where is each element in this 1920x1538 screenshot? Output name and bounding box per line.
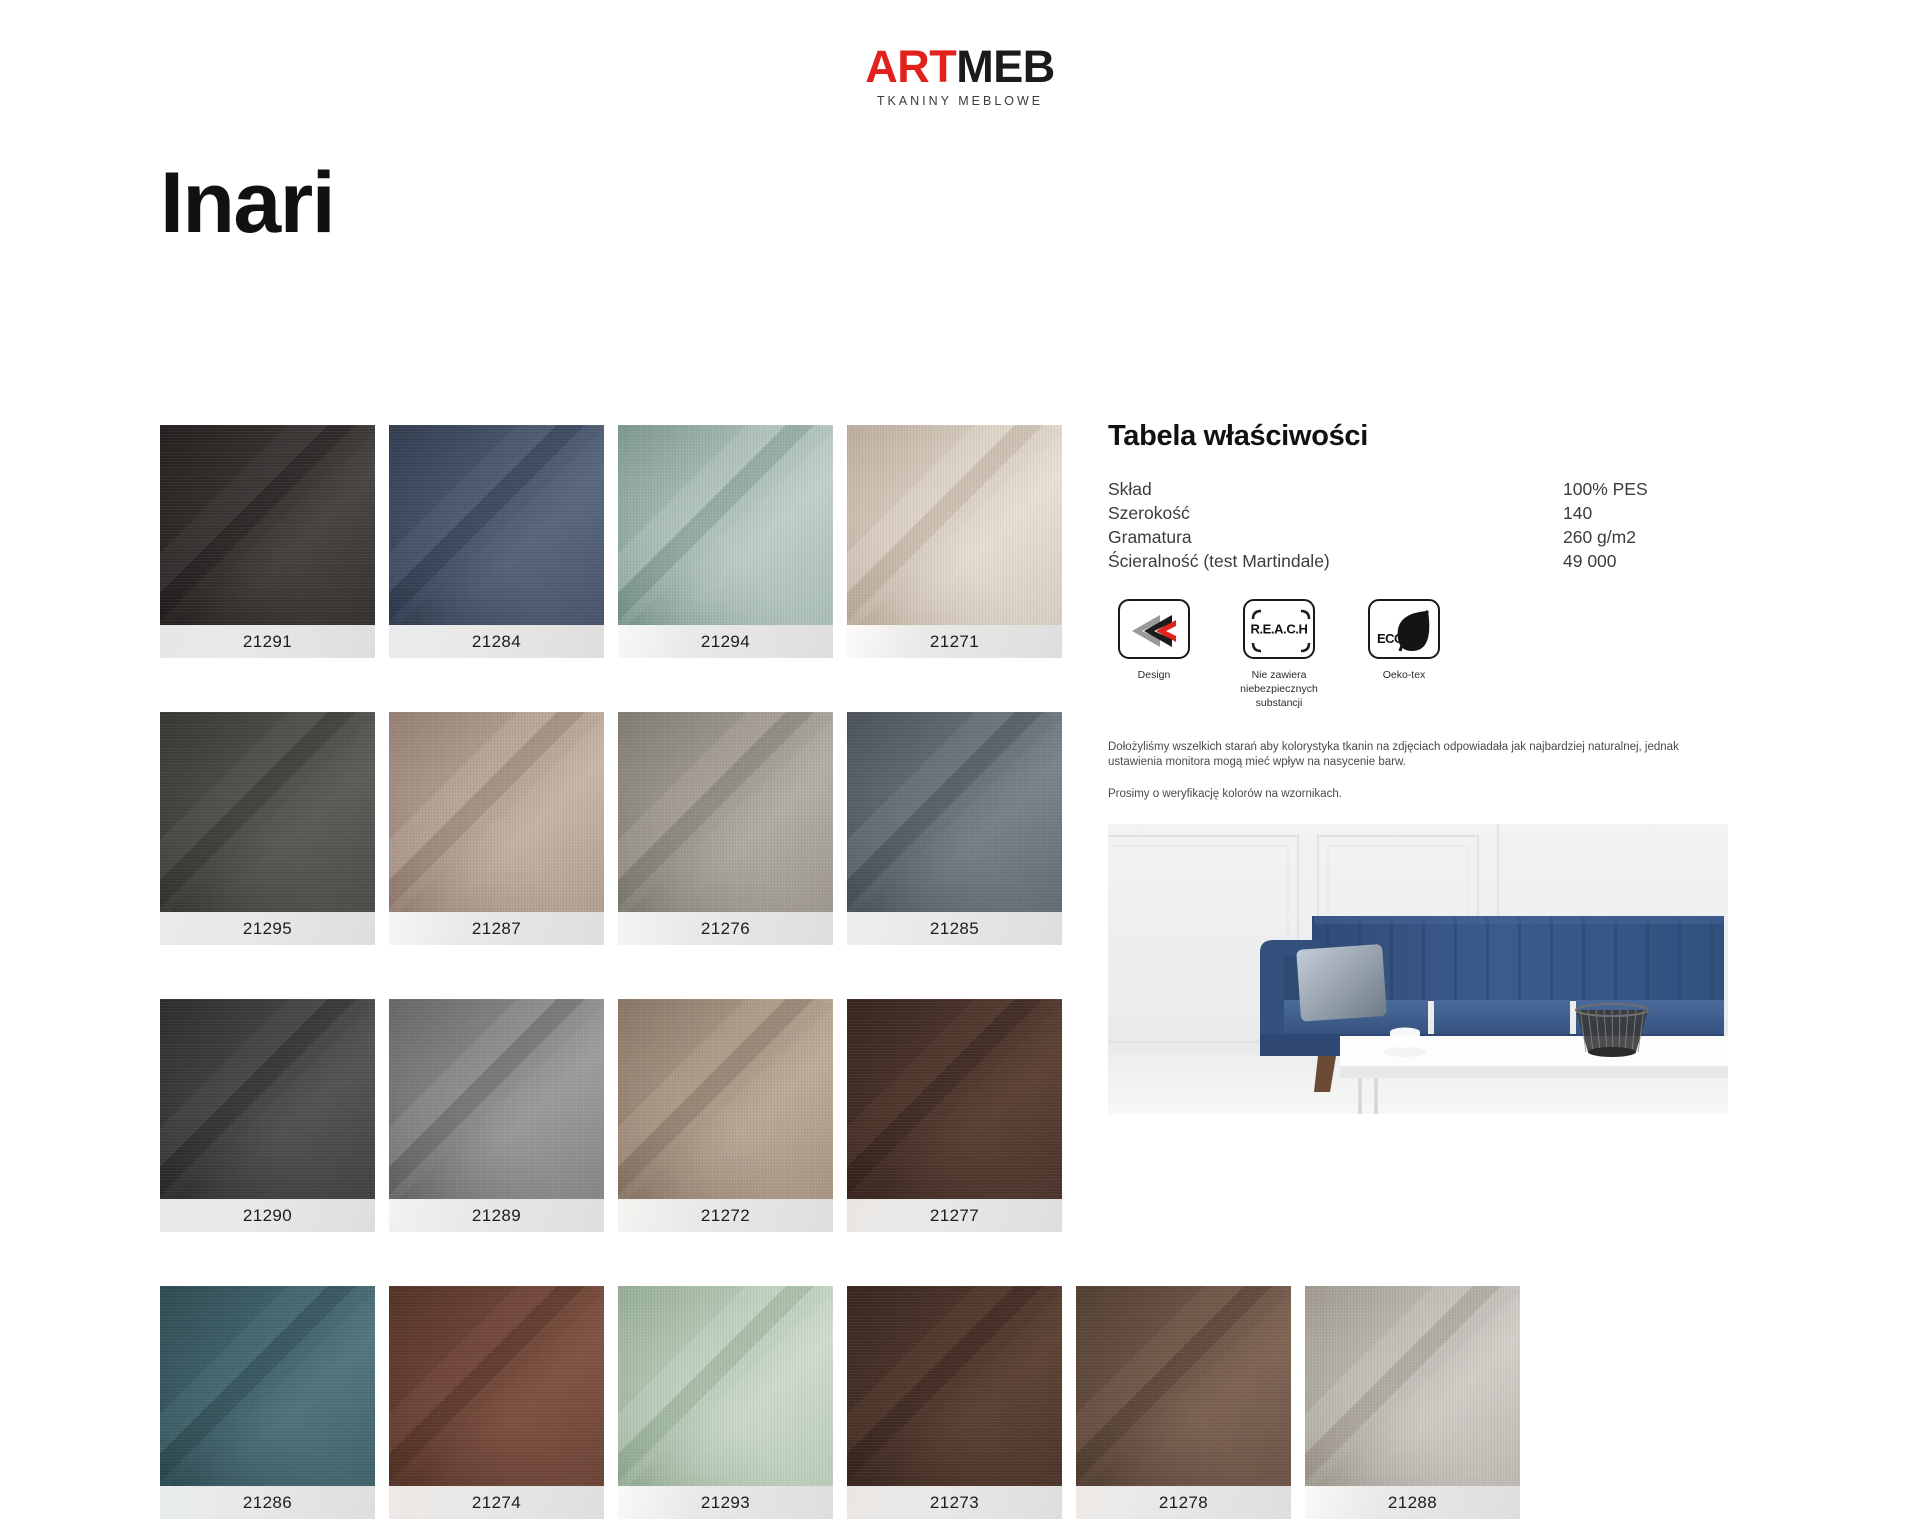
swatch-item[interactable]: 21287 <box>389 712 604 945</box>
sofa-scene-illustration <box>1108 824 1728 1114</box>
swatch-item[interactable]: 21278 <box>1076 1286 1291 1519</box>
property-row: Ścieralność (test Martindale)49 000 <box>1108 549 1748 573</box>
swatch-item[interactable]: 21295 <box>160 712 375 945</box>
property-value: 260 g/m2 <box>1563 525 1748 549</box>
swatch-code-label: 21291 <box>160 625 375 658</box>
swatch-item[interactable]: 21291 <box>160 425 375 658</box>
fabric-catalog-page: ARTMEB TKANINY MEBLOWE Inari 21291212842… <box>0 0 1920 1538</box>
swatch-item[interactable]: 21288 <box>1305 1286 1520 1519</box>
swatch-fabric-image <box>160 1286 375 1486</box>
swatch-fabric-image <box>1076 1286 1291 1486</box>
swatch-item[interactable]: 21289 <box>389 999 604 1232</box>
disclaimer-paragraph-2: Prosimy o weryfikację kolorów na wzornik… <box>1108 787 1728 802</box>
brand-logo: ARTMEB TKANINY MEBLOWE <box>0 44 1920 108</box>
swatch-row: 21290212892127221277 <box>160 999 1260 1232</box>
properties-table: Skład100% PESSzerokość140Gramatura260 g/… <box>1108 477 1748 573</box>
swatch-fabric-image <box>160 712 375 912</box>
swatch-item[interactable]: 21285 <box>847 712 1062 945</box>
properties-heading: Tabela właściwości <box>1108 420 1748 453</box>
property-row: Szerokość140 <box>1108 501 1748 525</box>
swatch-row: 21295212872127621285 <box>160 712 1260 945</box>
swatch-fabric-image <box>618 1286 833 1486</box>
swatch-code-label: 21294 <box>618 625 833 658</box>
property-row: Gramatura260 g/m2 <box>1108 525 1748 549</box>
swatch-fabric-image <box>847 999 1062 1199</box>
swatch-code-label: 21272 <box>618 1199 833 1232</box>
swatch-item[interactable]: 21277 <box>847 999 1062 1232</box>
swatch-code-label: 21276 <box>618 912 833 945</box>
property-value: 49 000 <box>1563 549 1748 573</box>
property-key: Skład <box>1108 477 1563 501</box>
swatch-fabric-image <box>847 425 1062 625</box>
badge-design-chevron: Design <box>1108 599 1200 710</box>
swatch-code-label: 21277 <box>847 1199 1062 1232</box>
badge-caption: Nie zawiera niebezpiecznych substancji <box>1233 668 1325 710</box>
swatch-row: 212862127421293212732127821288 <box>160 1286 1260 1519</box>
property-row: Skład100% PES <box>1108 477 1748 501</box>
swatch-fabric-image <box>618 425 833 625</box>
swatch-row: 21291212842129421271 <box>160 425 1260 658</box>
swatch-code-label: 21289 <box>389 1199 604 1232</box>
properties-panel: Tabela właściwości Skład100% PESSzerokoś… <box>1108 420 1748 1114</box>
swatch-fabric-image <box>389 425 604 625</box>
logo-meb-text: MEB <box>956 41 1055 92</box>
logo-art-text: ART <box>865 41 956 92</box>
swatch-code-label: 21290 <box>160 1199 375 1232</box>
swatch-code-label: 21286 <box>160 1486 375 1519</box>
swatch-item[interactable]: 21276 <box>618 712 833 945</box>
swatch-item[interactable]: 21286 <box>160 1286 375 1519</box>
swatch-code-label: 21274 <box>389 1486 604 1519</box>
swatch-fabric-image <box>160 425 375 625</box>
swatch-grid: 2129121284212942127121295212872127621285… <box>160 425 1260 1538</box>
design-chevron-icon <box>1118 599 1190 659</box>
swatch-code-label: 21271 <box>847 625 1062 658</box>
swatch-code-label: 21293 <box>618 1486 833 1519</box>
property-value: 140 <box>1563 501 1748 525</box>
certification-badges: DesignR.E.A.C.HNie zawiera niebezpieczny… <box>1108 599 1748 710</box>
swatch-code-label: 21285 <box>847 912 1062 945</box>
reach-icon: R.E.A.C.H <box>1243 599 1315 659</box>
swatch-item[interactable]: 21274 <box>389 1286 604 1519</box>
logo-tagline: TKANINY MEBLOWE <box>0 94 1920 108</box>
interior-photo <box>1108 824 1728 1114</box>
swatch-code-label: 21273 <box>847 1486 1062 1519</box>
swatch-item[interactable]: 21294 <box>618 425 833 658</box>
swatch-fabric-image <box>160 999 375 1199</box>
swatch-fabric-image <box>389 999 604 1199</box>
swatch-code-label: 21295 <box>160 912 375 945</box>
swatch-item[interactable]: 21284 <box>389 425 604 658</box>
badge-caption: Design <box>1108 668 1200 682</box>
swatch-fabric-image <box>618 999 833 1199</box>
page-title: Inari <box>160 160 334 246</box>
swatch-code-label: 21288 <box>1305 1486 1520 1519</box>
eco-leaf-icon: ECO <box>1368 599 1440 659</box>
swatch-code-label: 21287 <box>389 912 604 945</box>
swatch-item[interactable]: 21290 <box>160 999 375 1232</box>
property-key: Szerokość <box>1108 501 1563 525</box>
disclaimer-paragraph-1: Dołożyliśmy wszelkich starań aby kolorys… <box>1108 740 1728 770</box>
swatch-code-label: 21278 <box>1076 1486 1291 1519</box>
swatch-code-label: 21284 <box>389 625 604 658</box>
property-key: Ścieralność (test Martindale) <box>1108 549 1563 573</box>
swatch-fabric-image <box>847 1286 1062 1486</box>
property-key: Gramatura <box>1108 525 1563 549</box>
swatch-fabric-image <box>389 1286 604 1486</box>
swatch-item[interactable]: 21271 <box>847 425 1062 658</box>
swatch-item[interactable]: 21273 <box>847 1286 1062 1519</box>
swatch-item[interactable]: 21293 <box>618 1286 833 1519</box>
badge-reach: R.E.A.C.HNie zawiera niebezpiecznych sub… <box>1233 599 1325 710</box>
property-value: 100% PES <box>1563 477 1748 501</box>
badge-caption: Oeko-tex <box>1358 668 1450 682</box>
disclaimer-text: Dołożyliśmy wszelkich starań aby kolorys… <box>1108 740 1728 802</box>
badge-eco-leaf: ECOOeko-tex <box>1358 599 1450 710</box>
swatch-fabric-image <box>618 712 833 912</box>
swatch-fabric-image <box>389 712 604 912</box>
swatch-item[interactable]: 21272 <box>618 999 833 1232</box>
swatch-fabric-image <box>1305 1286 1520 1486</box>
swatch-fabric-image <box>847 712 1062 912</box>
